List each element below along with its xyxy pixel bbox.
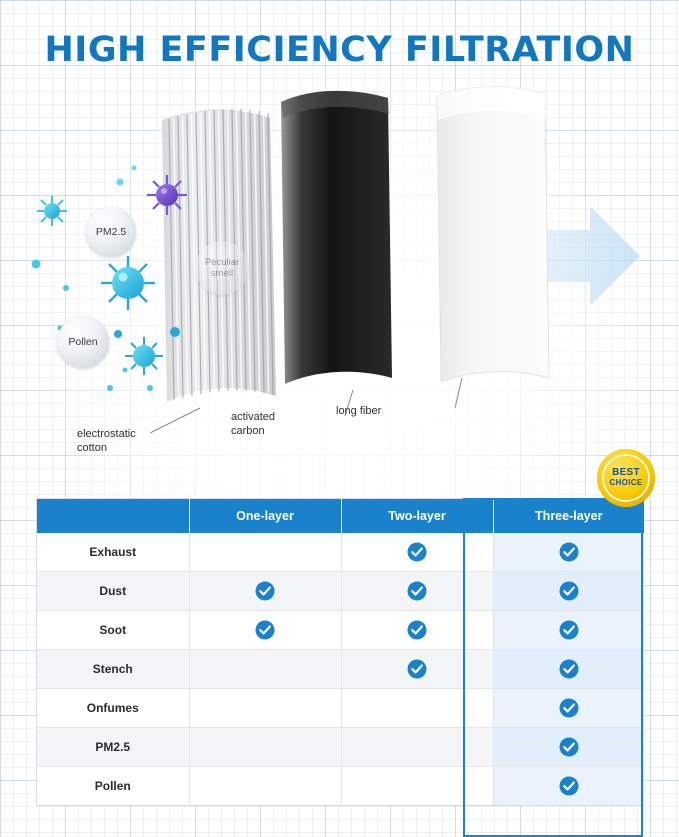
virus-icon bbox=[37, 196, 67, 226]
label-electrostatic-cotton: electrostatic cotton bbox=[77, 427, 136, 455]
label-electrostatic-cotton-line2: cotton bbox=[77, 441, 136, 455]
header-two-layer: Two-layer bbox=[341, 499, 493, 533]
cell-three-layer bbox=[493, 572, 644, 611]
check-icon bbox=[559, 776, 579, 796]
table-row: Pollen bbox=[37, 767, 644, 806]
badge-text: BEST CHOICE bbox=[595, 447, 657, 509]
layer-activated-carbon bbox=[281, 91, 392, 384]
table-body: ExhaustDustSootStenchOnfumesPM2.5Pollen bbox=[37, 533, 644, 805]
check-icon bbox=[559, 620, 579, 640]
particle-dot bbox=[107, 385, 113, 391]
pm25-bubble-label: PM2.5 bbox=[96, 226, 126, 238]
virus-icon bbox=[147, 175, 187, 215]
virus-icon bbox=[125, 337, 163, 375]
check-icon bbox=[559, 581, 579, 601]
particle-dot bbox=[147, 385, 153, 391]
particle-dot bbox=[63, 285, 69, 291]
row-label: Stench bbox=[37, 650, 189, 689]
check-icon bbox=[255, 620, 275, 640]
pollen-bubble-label: Pollen bbox=[68, 336, 97, 348]
row-label: Pollen bbox=[37, 767, 189, 806]
table-row: Exhaust bbox=[37, 533, 644, 572]
row-label: Exhaust bbox=[37, 533, 189, 572]
cell-one-layer bbox=[189, 689, 341, 728]
row-label: Soot bbox=[37, 611, 189, 650]
particle-dot bbox=[170, 327, 180, 337]
check-icon bbox=[407, 659, 427, 679]
cell-two-layer bbox=[341, 650, 493, 689]
label-activated-carbon: activated carbon bbox=[231, 410, 275, 438]
header-one-layer: One-layer bbox=[189, 499, 341, 533]
cell-two-layer bbox=[341, 572, 493, 611]
row-label: Onfumes bbox=[37, 689, 189, 728]
check-icon bbox=[255, 581, 275, 601]
cell-one-layer bbox=[189, 767, 341, 806]
table-header: One-layer Two-layer Three-layer bbox=[37, 499, 644, 533]
cell-three-layer bbox=[493, 728, 644, 767]
virus-icon bbox=[101, 256, 155, 310]
check-icon bbox=[559, 698, 579, 718]
label-long-fiber-text: long fiber bbox=[336, 404, 381, 418]
table-row: PM2.5 bbox=[37, 728, 644, 767]
particles-group bbox=[32, 166, 188, 392]
peculiar-smell-label-line1: Peculiar bbox=[205, 257, 239, 268]
cell-one-layer bbox=[189, 611, 341, 650]
cell-one-layer bbox=[189, 650, 341, 689]
pm25-bubble: PM2.5 bbox=[86, 207, 136, 257]
label-electrostatic-cotton-line1: electrostatic bbox=[77, 427, 136, 441]
peculiar-smell-bubble: Peculiar smell bbox=[195, 241, 249, 295]
cell-three-layer bbox=[493, 650, 644, 689]
cell-three-layer bbox=[493, 533, 644, 572]
row-label: Dust bbox=[37, 572, 189, 611]
table-row: Onfumes bbox=[37, 689, 644, 728]
check-icon bbox=[559, 659, 579, 679]
row-label: PM2.5 bbox=[37, 728, 189, 767]
particle-dot bbox=[32, 260, 41, 269]
peculiar-smell-label-line2: smell bbox=[211, 268, 233, 279]
table-row: Dust bbox=[37, 572, 644, 611]
particle-dot bbox=[117, 179, 124, 186]
label-activated-carbon-line1: activated bbox=[231, 410, 275, 424]
cell-one-layer bbox=[189, 533, 341, 572]
cell-three-layer bbox=[493, 611, 644, 650]
check-icon bbox=[407, 542, 427, 562]
cell-three-layer bbox=[493, 767, 644, 806]
cell-two-layer bbox=[341, 611, 493, 650]
comparison-table-element: One-layer Two-layer Three-layer ExhaustD… bbox=[37, 499, 644, 805]
pollen-bubble: Pollen bbox=[57, 316, 109, 368]
check-icon bbox=[559, 542, 579, 562]
particle-dot bbox=[132, 166, 137, 171]
layer-long-fiber bbox=[437, 87, 549, 382]
cell-two-layer bbox=[341, 728, 493, 767]
check-icon bbox=[407, 620, 427, 640]
particle-dot bbox=[123, 368, 128, 373]
best-choice-badge: BEST CHOICE bbox=[595, 447, 657, 509]
cell-two-layer bbox=[341, 533, 493, 572]
cell-two-layer bbox=[341, 767, 493, 806]
badge-line2: CHOICE bbox=[610, 478, 643, 488]
cell-three-layer bbox=[493, 689, 644, 728]
label-long-fiber: long fiber bbox=[336, 404, 381, 418]
badge-line1: BEST bbox=[612, 468, 640, 478]
filtration-illustration: PM2.5 Pollen Peculiar smell electrostati… bbox=[0, 78, 679, 488]
table-header-row: One-layer Two-layer Three-layer bbox=[37, 499, 644, 533]
page-title: HIGH EFFICIENCY FILTRATION bbox=[0, 28, 679, 72]
table-row: Soot bbox=[37, 611, 644, 650]
cell-one-layer bbox=[189, 572, 341, 611]
check-icon bbox=[407, 581, 427, 601]
cell-one-layer bbox=[189, 728, 341, 767]
label-activated-carbon-line2: carbon bbox=[231, 424, 275, 438]
cell-two-layer bbox=[341, 689, 493, 728]
check-icon bbox=[559, 737, 579, 757]
header-blank bbox=[37, 499, 189, 533]
table-row: Stench bbox=[37, 650, 644, 689]
comparison-table: One-layer Two-layer Three-layer ExhaustD… bbox=[36, 498, 643, 806]
particle-dot bbox=[114, 330, 122, 338]
